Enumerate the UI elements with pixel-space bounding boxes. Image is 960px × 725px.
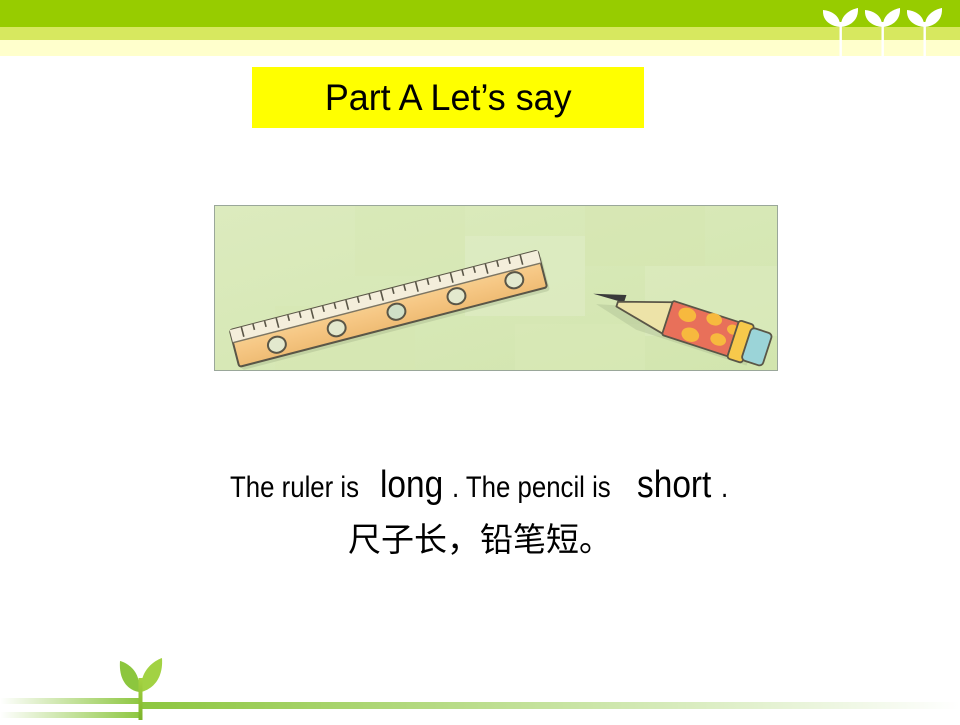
footer-line-right bbox=[140, 702, 960, 709]
page-title-highlight: Part A Let’s say bbox=[252, 67, 644, 128]
sentence-part-long: long bbox=[380, 466, 443, 506]
sentence-part-short: short bbox=[637, 466, 711, 506]
sprout-icon bbox=[823, 8, 858, 56]
footer-line-left bbox=[0, 698, 142, 704]
footer-line-left-lower bbox=[0, 712, 142, 718]
header-sprouts-group bbox=[810, 0, 960, 56]
sentence-part-3: . The pencil is bbox=[452, 472, 611, 504]
sprout-icon bbox=[865, 8, 900, 56]
footer-decoration bbox=[0, 640, 960, 720]
sprout-icon bbox=[907, 8, 942, 56]
header-decoration bbox=[0, 0, 960, 56]
sentence-english: The ruler is long. The pencil is short. bbox=[0, 466, 960, 506]
sentence-part-5: . bbox=[721, 472, 728, 504]
sentence-chinese: 尺子长，铅笔短。 bbox=[0, 522, 960, 558]
sentence-part-1: The ruler is bbox=[230, 472, 359, 504]
illustration-ruler-and-pencil bbox=[214, 205, 778, 371]
sprout-icon bbox=[120, 658, 162, 720]
page-title: Part A Let’s say bbox=[325, 79, 572, 116]
